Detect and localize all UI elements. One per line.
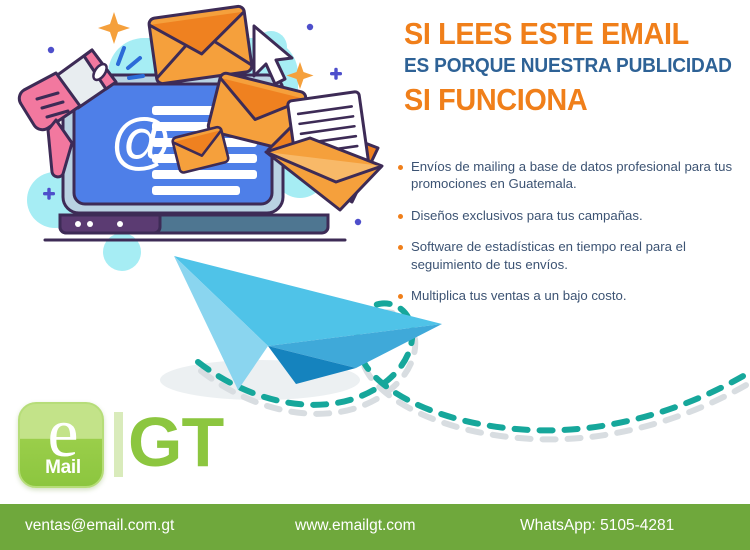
list-item-label: Diseños exclusivos para tus campañas.: [411, 207, 643, 224]
envelope-top: [148, 6, 252, 85]
list-item-label: Software de estadísticas en tiempo real …: [411, 238, 748, 273]
list-item: Diseños exclusivos para tus campañas.: [398, 207, 748, 224]
bullet-dot-icon: [398, 165, 403, 170]
contact-footer-bar: ventas@email.com.gt www.emailgt.com What…: [0, 504, 750, 550]
list-item: Multiplica tus ventas a un bajo costo.: [398, 287, 748, 304]
list-item-label: Envíos de mailing a base de datos profes…: [411, 158, 748, 193]
feature-list: Envíos de mailing a base de datos profes…: [398, 158, 748, 319]
list-item-label: Multiplica tus ventas a un bajo costo.: [411, 287, 627, 304]
footer-email[interactable]: ventas@email.com.gt: [25, 517, 174, 535]
headline-line-3: SI FUNCIONA: [404, 84, 726, 117]
bullet-dot-icon: [398, 214, 403, 219]
logo-word-mail: Mail: [20, 457, 106, 479]
logo-suffix-gt: GT: [128, 407, 223, 477]
bullet-dot-icon: [398, 245, 403, 250]
footer-whatsapp[interactable]: WhatsApp: 5105-4281: [520, 517, 674, 535]
bullet-dot-icon: [398, 294, 403, 299]
headline-line-2: ES PORQUE NUESTRA PUBLICIDAD: [404, 51, 726, 82]
brand-logo: e Mail GT: [18, 402, 238, 494]
headline-line-1: SI LEES ESTE EMAIL: [404, 18, 726, 51]
list-item: Software de estadísticas en tiempo real …: [398, 238, 748, 273]
footer-website[interactable]: www.emailgt.com: [295, 517, 416, 535]
logo-mark-square: e Mail: [18, 402, 104, 488]
headline-block: SI LEES ESTE EMAIL ES PORQUE NUESTRA PUB…: [404, 18, 750, 116]
logo-divider: [114, 412, 123, 477]
list-item: Envíos de mailing a base de datos profes…: [398, 158, 748, 193]
email-marketing-banner: @: [0, 0, 750, 550]
